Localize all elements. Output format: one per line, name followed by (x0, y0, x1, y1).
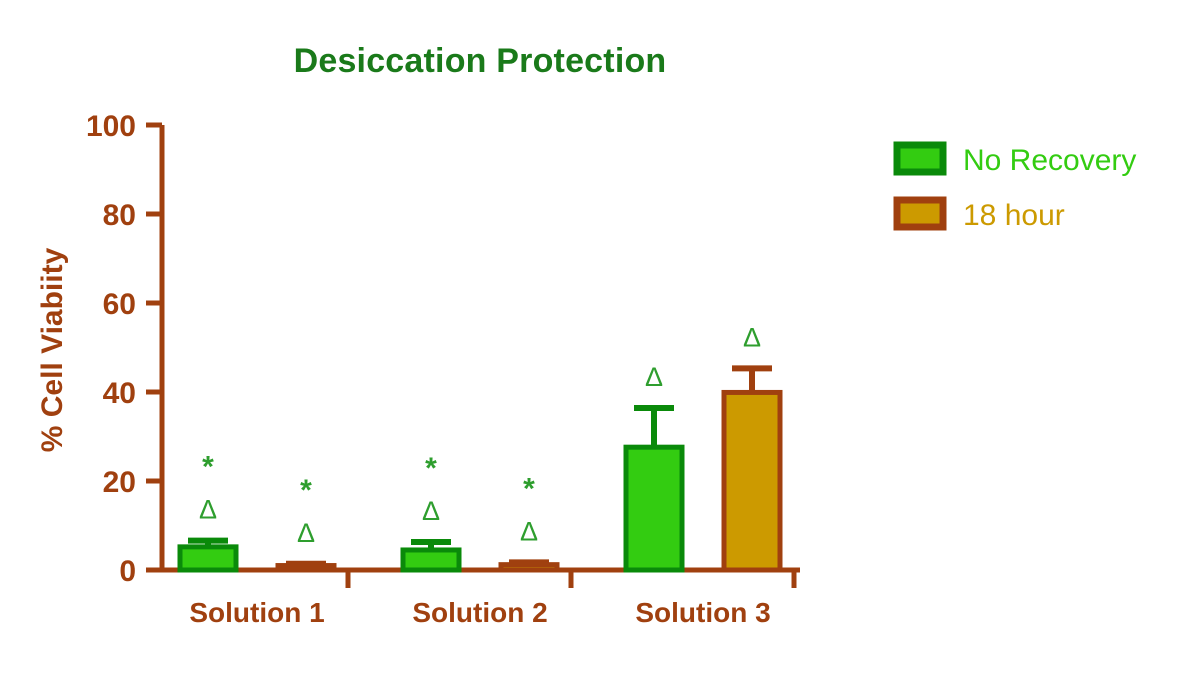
significance-delta: Δ (297, 518, 315, 548)
x-axis-category-label: Solution 3 (635, 597, 770, 628)
significance-star: * (202, 451, 214, 484)
significance-delta: Δ (422, 496, 440, 526)
bar (180, 547, 236, 570)
significance-delta: Δ (743, 322, 761, 352)
significance-star: * (523, 472, 535, 505)
y-axis-tick-label: 100 (86, 110, 136, 143)
legend-label: No Recovery (963, 144, 1136, 177)
significance-star: * (425, 452, 437, 485)
significance-star: * (300, 474, 312, 507)
legend-swatch (897, 145, 943, 172)
x-axis-category-label: Solution 1 (189, 597, 324, 628)
bar (724, 392, 780, 570)
legend-label: 18 hour (963, 199, 1065, 232)
x-axis-category-label: Solution 2 (412, 597, 547, 628)
chart-background (0, 0, 1200, 675)
significance-delta: Δ (199, 495, 217, 525)
y-axis-tick-label: 20 (103, 466, 136, 499)
bar-chart: Desiccation Protection 020406080100 % Ce… (0, 0, 1200, 675)
y-axis-tick-label: 60 (103, 288, 136, 321)
bar (403, 550, 459, 570)
significance-delta: Δ (520, 516, 538, 546)
legend-swatch (897, 200, 943, 227)
significance-delta: Δ (645, 362, 663, 392)
y-axis-tick-label: 40 (103, 377, 136, 410)
category-labels: Solution 1Solution 2Solution 3 (189, 597, 770, 628)
y-axis-title: % Cell Viabiity (36, 247, 69, 452)
chart-title: Desiccation Protection (294, 42, 667, 80)
y-axis-tick-label: 80 (103, 199, 136, 232)
bar (626, 447, 682, 570)
y-axis-tick-label: 0 (119, 555, 136, 588)
bar (501, 565, 557, 570)
chart-figure: Desiccation Protection 020406080100 % Ce… (0, 0, 1200, 675)
